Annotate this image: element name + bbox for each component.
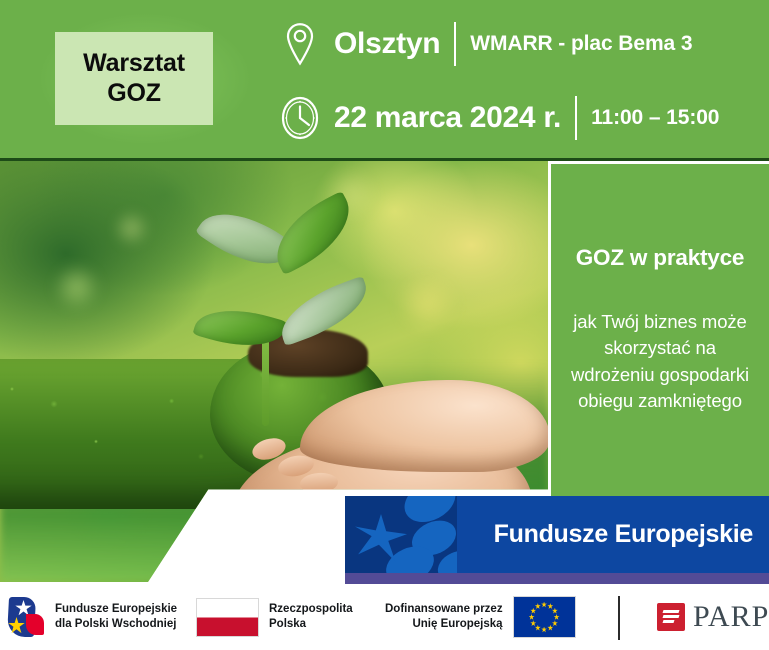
fe-pw-label: Fundusze Europejskie dla Polski Wschodni… (55, 602, 177, 632)
workshop-title-line1: Warsztat (83, 49, 185, 79)
fundusze-europejskie-pw-icon (6, 595, 46, 639)
footer-logo-bar: Fundusze Europejskie dla Polski Wschodni… (0, 584, 769, 650)
date-label: 22 marca 2024 r. (334, 101, 561, 135)
parp-bar-shape (663, 615, 680, 618)
poland-label: Rzeczpospolita Polska (269, 602, 353, 632)
poland-label-line2: Polska (269, 617, 353, 632)
eu-star-icon (547, 603, 553, 609)
city-label: Olsztyn (334, 27, 440, 61)
workshop-title-badge: Warsztat GOZ (55, 32, 213, 125)
fundusze-europejskie-logo-mark (345, 496, 457, 573)
fe-pw-label-line2: dla Polski Wschodniej (55, 617, 177, 632)
workshop-title-line2: GOZ (107, 79, 161, 109)
fundusze-europejskie-banner: Fundusze Europejskie (345, 496, 769, 573)
poland-label-line1: Rzeczpospolita (269, 602, 353, 617)
header-bottom-rule (0, 158, 769, 161)
eu-star-icon (529, 614, 535, 620)
fe-pw-red-shape (26, 614, 44, 635)
fe-pw-label-line1: Fundusze Europejskie (55, 602, 177, 617)
eu-star-icon (541, 602, 547, 608)
side-panel-title: GOZ w praktyce (565, 244, 755, 271)
location-info-row: Olsztyn WMARR - plac Bema 3 (280, 16, 692, 72)
datetime-info-row: 22 marca 2024 r. 11:00 – 15:00 (280, 90, 719, 146)
eu-label-line1: Dofinansowane przez (385, 602, 503, 617)
eu-label-line2: Unię Europejską (385, 617, 503, 632)
side-panel-body: jak Twój biznes może skorzystać na wdroż… (563, 309, 757, 414)
footer-logo-parp: PARP (657, 592, 769, 642)
eu-star-icon (530, 620, 536, 626)
parp-bar-shape (663, 620, 675, 623)
fundusze-europejskie-label: Fundusze Europejskie (457, 496, 769, 573)
footer-divider (618, 596, 620, 640)
footer-logo-fe-polska-wschodnia: Fundusze Europejskie dla Polski Wschodni… (6, 592, 177, 642)
header-bar: Warsztat GOZ Olsztyn WMARR - plac Bema 3 (0, 0, 769, 158)
venue-label: WMARR - plac Bema 3 (470, 32, 692, 56)
eu-star-icon (554, 614, 560, 620)
poster-root: Warsztat GOZ Olsztyn WMARR - plac Bema 3 (0, 0, 769, 650)
eu-star-icon (535, 625, 541, 631)
fundusze-europejskie-purple-strip (345, 573, 769, 584)
header-separator-1 (454, 22, 456, 66)
footer-logo-rzeczpospolita-polska: Rzeczpospolita Polska (196, 592, 353, 642)
location-pin-icon (280, 20, 320, 68)
eu-star-icon (530, 608, 536, 614)
parp-icon (657, 603, 685, 631)
hours-label: 11:00 – 15:00 (591, 106, 719, 130)
header-separator-2 (575, 96, 577, 140)
eu-flag-icon (513, 596, 576, 638)
footer-logo-unia-europejska: Dofinansowane przez Unię Europejską (385, 592, 576, 642)
eu-star-icon (541, 627, 547, 633)
parp-wordmark: PARP (693, 602, 769, 632)
clock-icon (280, 94, 320, 142)
eu-star-icon (552, 608, 558, 614)
poland-flag-icon (196, 598, 259, 637)
parp-bar-shape (663, 610, 680, 613)
eu-star-icon (535, 603, 541, 609)
eu-star-icon (552, 620, 558, 626)
eu-label: Dofinansowane przez Unię Europejską (385, 602, 503, 632)
eu-star-icon (547, 625, 553, 631)
